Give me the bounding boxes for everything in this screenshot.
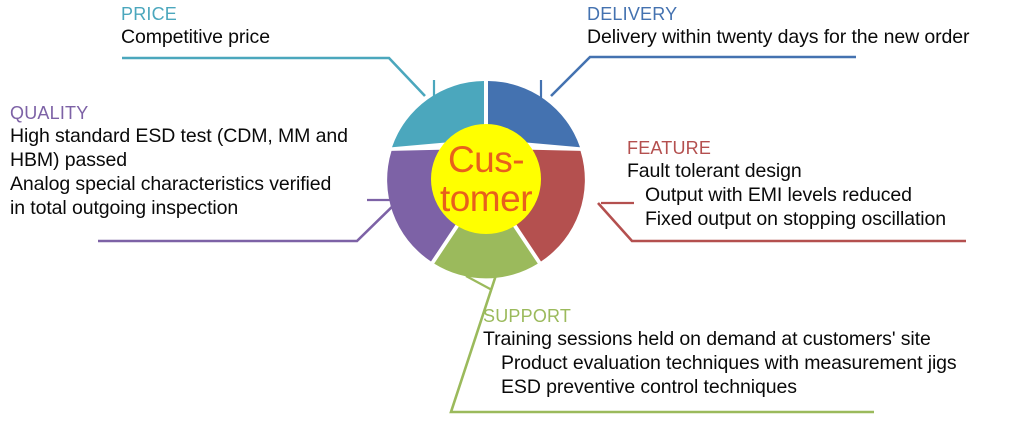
callout-quality-line-2: HBM) passed bbox=[10, 148, 348, 172]
callout-quality-line-4: in total outgoing inspection bbox=[10, 196, 348, 220]
callout-support-heading: SUPPORT bbox=[483, 306, 957, 327]
callout-feature-line-1: Fault tolerant design bbox=[627, 159, 946, 183]
diagram-canvas: Cus- tomer PRICE Competitive price DELIV… bbox=[0, 0, 1014, 426]
connector-delivery bbox=[541, 57, 856, 101]
callout-price: PRICE Competitive price bbox=[121, 4, 270, 49]
callout-support: SUPPORT Training sessions held on demand… bbox=[483, 306, 957, 399]
callout-quality-line-1: High standard ESD test (CDM, MM and bbox=[10, 124, 348, 148]
callout-feature: FEATURE Fault tolerant design Output wit… bbox=[627, 138, 946, 231]
callout-delivery: DELIVERY Delivery within twenty days for… bbox=[587, 4, 969, 49]
connector-price bbox=[122, 58, 434, 100]
callout-quality: QUALITY High standard ESD test (CDM, MM … bbox=[10, 103, 348, 220]
callout-support-line-2: Product evaluation techniques with measu… bbox=[483, 351, 957, 375]
callout-support-line-1: Training sessions held on demand at cust… bbox=[483, 327, 957, 351]
callout-delivery-heading: DELIVERY bbox=[587, 4, 969, 25]
callout-delivery-line-1: Delivery within twenty days for the new … bbox=[587, 25, 969, 49]
callout-quality-line-3: Analog special characteristics verified bbox=[10, 172, 348, 196]
donut-ring bbox=[387, 81, 585, 278]
callout-price-line-1: Competitive price bbox=[121, 25, 270, 49]
callout-feature-line-3: Fixed output on stopping oscillation bbox=[627, 207, 946, 231]
callout-feature-line-2: Output with EMI levels reduced bbox=[627, 183, 946, 207]
callout-feature-heading: FEATURE bbox=[627, 138, 946, 159]
callout-quality-heading: QUALITY bbox=[10, 103, 348, 124]
donut-center-hub[interactable] bbox=[431, 124, 541, 234]
callout-price-heading: PRICE bbox=[121, 4, 270, 25]
callout-support-line-3: ESD preventive control techniques bbox=[483, 375, 957, 399]
